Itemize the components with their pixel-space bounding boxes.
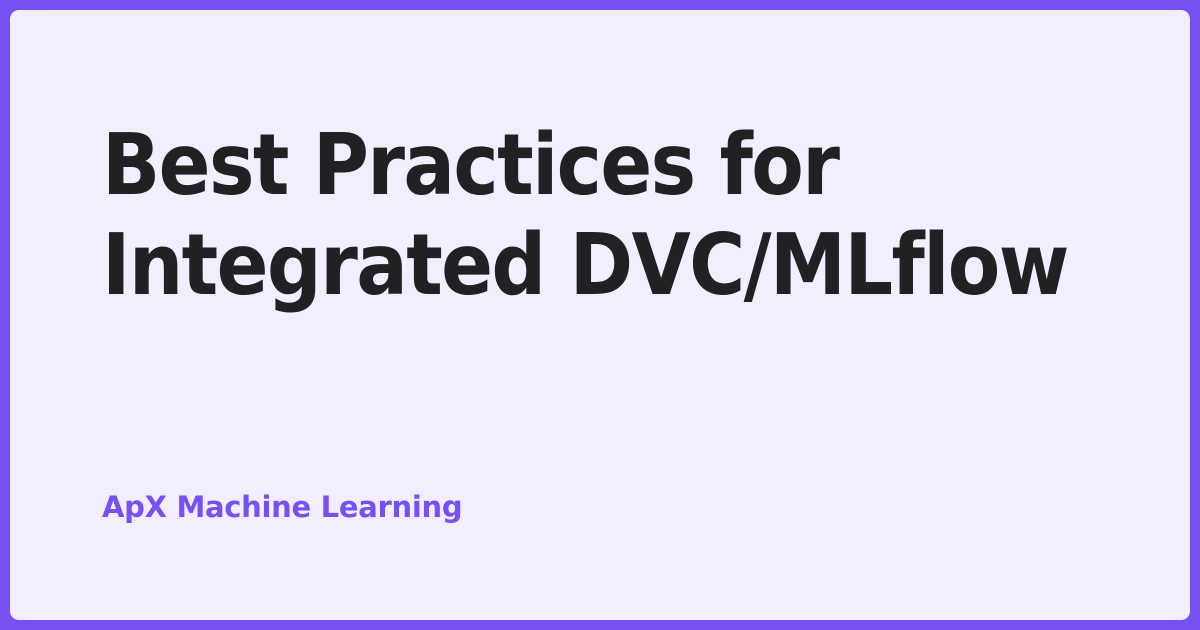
page-title: Best Practices for Integrated DVC/MLflow <box>102 116 1098 316</box>
brand-block: ApX Machine Learning <box>102 490 462 524</box>
title-block: Best Practices for Integrated DVC/MLflow <box>102 116 1098 316</box>
card-canvas: Best Practices for Integrated DVC/MLflow… <box>10 10 1190 620</box>
brand-name: ApX Machine Learning <box>102 490 462 524</box>
og-card: Best Practices for Integrated DVC/MLflow… <box>0 0 1200 630</box>
